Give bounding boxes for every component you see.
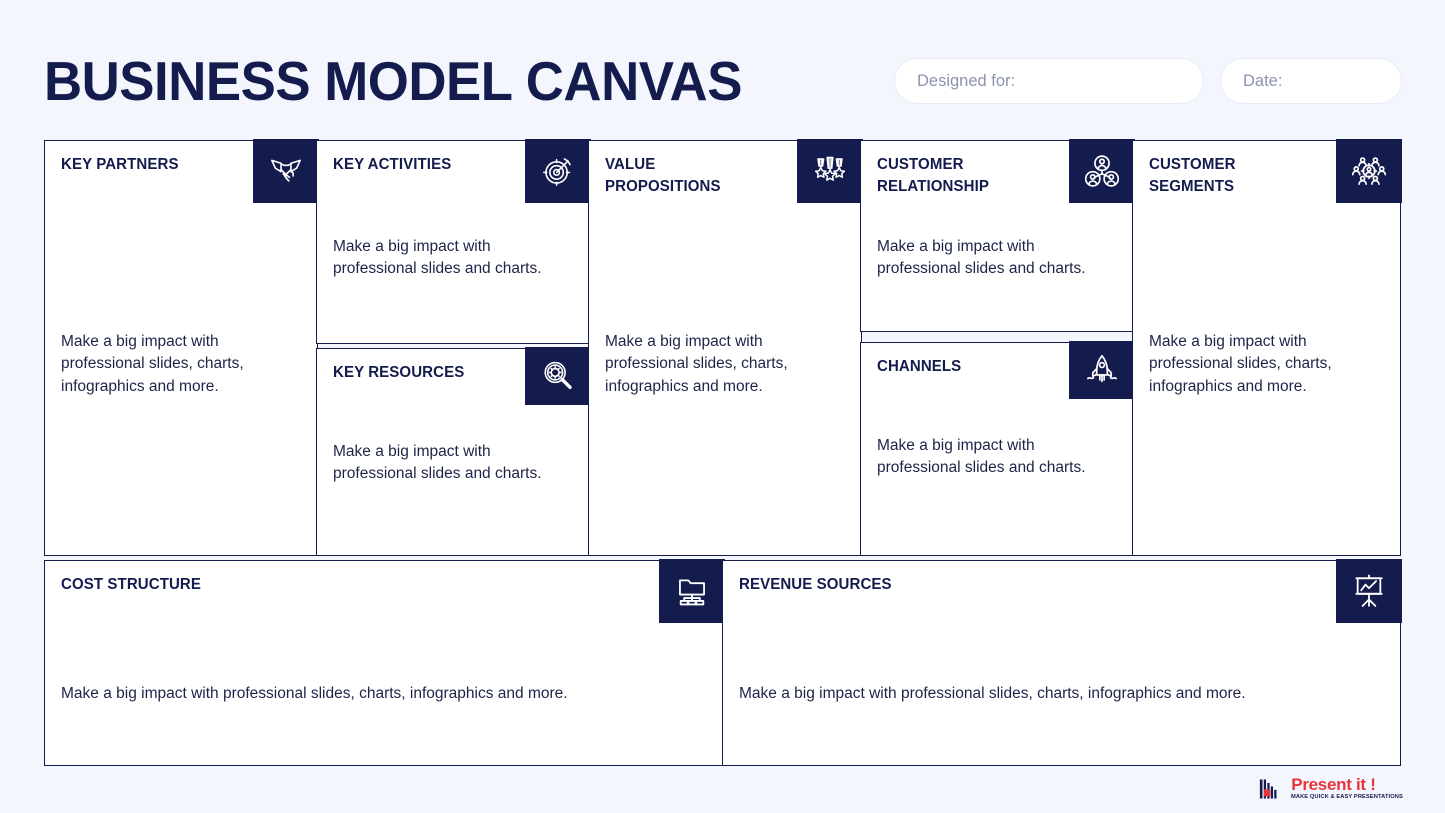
handshake-icon xyxy=(253,139,319,203)
cell-title-key-partners: KEY PARTNERS xyxy=(61,154,179,176)
cell-title-cost-structure: COST STRUCTURE xyxy=(61,574,201,596)
cell-title-key-activities: KEY ACTIVITIES xyxy=(333,154,451,176)
cell-title-value-propositions: VALUE PROPOSITIONS xyxy=(605,154,769,198)
page-title: BUSINESS MODEL CANVAS xyxy=(44,54,742,109)
cell-body-customer-relationship: Make a big impact with professional slid… xyxy=(877,236,1117,281)
brand-tagline: MAKE QUICK & EASY PRESENTATIONS xyxy=(1291,795,1403,801)
cell-revenue-sources[interactable]: REVENUE SOURCES Make a big impact with p… xyxy=(722,560,1401,766)
cell-body-key-partners: Make a big impact with professional slid… xyxy=(61,331,301,398)
cell-title-revenue-sources: REVENUE SOURCES xyxy=(739,574,892,596)
cell-body-cost-structure: Make a big impact with professional slid… xyxy=(61,683,707,705)
cell-key-activities[interactable]: KEY ACTIVITIES Make a big impact with pr… xyxy=(316,140,590,344)
cell-title-key-resources: KEY RESOURCES xyxy=(333,362,464,384)
cell-customer-segments[interactable]: CUSTOMER SEGMENTS Make a big impact with… xyxy=(1132,140,1401,556)
brand-name: Present it ! xyxy=(1291,776,1401,793)
cell-body-key-activities: Make a big impact with professional slid… xyxy=(333,236,573,281)
people-network-icon xyxy=(1069,139,1135,203)
audience-target-icon xyxy=(1336,139,1402,203)
cell-title-channels: CHANNELS xyxy=(877,356,961,378)
designed-for-field[interactable] xyxy=(895,59,1203,103)
cell-title-customer-relationship: CUSTOMER RELATIONSHIP xyxy=(877,154,1041,198)
brand-logo: Present it ! MAKE QUICK & EASY PRESENTAT… xyxy=(1259,776,1401,801)
target-arrow-icon xyxy=(525,139,591,203)
presentation-chart-icon xyxy=(1336,559,1402,623)
canvas-grid: KEY PARTNERS Make a big impact with prof… xyxy=(44,140,1401,766)
folder-hierarchy-icon xyxy=(659,559,725,623)
cell-customer-relationship[interactable]: CUSTOMER RELATIONSHIP Make a big impact … xyxy=(860,140,1134,332)
cell-body-revenue-sources: Make a big impact with professional slid… xyxy=(739,683,1384,705)
magnifier-gear-icon xyxy=(525,347,591,405)
cell-value-propositions[interactable]: VALUE PROPOSITIONS Make a big impact wit… xyxy=(588,140,862,556)
cell-key-resources[interactable]: KEY RESOURCES Make a big impact with pro… xyxy=(316,348,590,556)
business-model-canvas: BUSINESS MODEL CANVAS KEY PARTNERS Make … xyxy=(0,0,1445,813)
designed-for-input[interactable] xyxy=(917,59,1203,103)
date-field[interactable] xyxy=(1221,59,1401,103)
cell-key-partners[interactable]: KEY PARTNERS Make a big impact with prof… xyxy=(44,140,318,556)
cell-body-channels: Make a big impact with professional slid… xyxy=(877,435,1117,480)
cell-channels[interactable]: CHANNELS Make a big impact with professi… xyxy=(860,342,1134,556)
canvas-header: BUSINESS MODEL CANVAS xyxy=(44,38,1401,124)
present-it-logo-mark xyxy=(1259,777,1285,801)
cell-body-customer-segments: Make a big impact with professional slid… xyxy=(1149,331,1384,398)
date-input[interactable] xyxy=(1243,59,1401,103)
rocket-icon xyxy=(1069,341,1135,399)
header-fields xyxy=(895,59,1401,103)
cell-body-key-resources: Make a big impact with professional slid… xyxy=(333,441,573,486)
medals-stars-icon xyxy=(797,139,863,203)
cell-body-value-propositions: Make a big impact with professional slid… xyxy=(605,331,845,398)
cell-cost-structure[interactable]: COST STRUCTURE Make a big impact with pr… xyxy=(44,560,724,766)
cell-title-customer-segments: CUSTOMER SEGMENTS xyxy=(1149,154,1310,198)
brand-text: Present it ! MAKE QUICK & EASY PRESENTAT… xyxy=(1291,776,1401,801)
